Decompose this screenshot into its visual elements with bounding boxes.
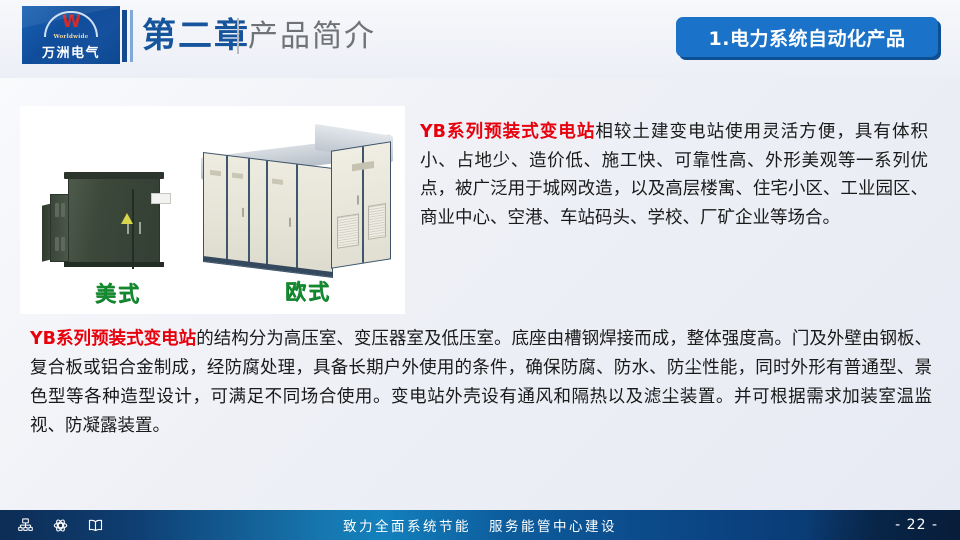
us-vent-slot	[55, 237, 59, 251]
logo-letter: W	[44, 13, 98, 32]
american-substation-image	[50, 168, 168, 268]
intro-paragraph: YB系列预装式变电站相较土建变电站使用灵活方便，具有体积小、占地少、造价低、施工…	[420, 118, 928, 232]
product-image-panel: 美式 欧式	[20, 106, 405, 314]
us-left-side-panel	[50, 194, 70, 262]
caption-european: 欧式	[285, 276, 331, 306]
us-door-handle	[139, 222, 141, 234]
us-door-seam	[132, 189, 134, 269]
eu-door-label	[210, 170, 221, 176]
eu-door-handle	[289, 218, 291, 227]
us-main-cabinet	[68, 176, 160, 264]
company-logo: W Worldwide 万洲电气	[22, 6, 120, 64]
us-roof	[64, 172, 164, 179]
slide-footer: 致力全面系统节能 服务能管中心建设 - 22 -	[0, 510, 960, 540]
eu-panel-seam	[226, 156, 228, 264]
header-title-separator	[237, 18, 239, 54]
eu-panel-seam	[248, 159, 250, 267]
header-divider-dark	[122, 10, 127, 62]
logo-w-mark: W	[44, 11, 98, 33]
chapter-subtitle: 产品简介	[248, 14, 376, 60]
eu-ventilation-grille	[337, 213, 359, 248]
chapter-title: 第二章	[142, 12, 250, 60]
us-warning-triangle-icon	[121, 213, 133, 224]
eu-door-handle	[242, 208, 244, 217]
structure-highlight: YB系列预装式变电站	[30, 329, 196, 349]
european-substation-image	[195, 128, 395, 288]
slide: W Worldwide 万洲电气 第二章 产品简介 1.电力系统自动化产品	[0, 0, 960, 540]
us-base	[64, 262, 164, 267]
slide-header: W Worldwide 万洲电气 第二章 产品简介 1.电力系统自动化产品	[0, 0, 960, 78]
footer-slogan-right: 服务能管中心建设	[489, 515, 617, 535]
intro-highlight: YB系列预装式变电站	[420, 122, 595, 142]
footer-slogan-left: 致力全面系统节能	[343, 515, 471, 535]
logo-company-name: 万洲电气	[42, 42, 100, 61]
footer-slogan: 致力全面系统节能 服务能管中心建设	[0, 510, 960, 540]
us-vent-slot	[61, 237, 65, 251]
page-number: - 22 -	[895, 510, 938, 540]
eu-end-face	[331, 141, 391, 269]
eu-door-label	[272, 178, 283, 184]
caption-american: 美式	[95, 278, 141, 308]
eu-panel-seam	[266, 161, 268, 269]
us-vent-slot	[55, 203, 59, 217]
eu-panel-seam	[296, 164, 298, 272]
us-nameplate	[151, 193, 171, 204]
eu-ventilation-grille	[368, 203, 386, 240]
section-banner-label: 1.电力系统自动化产品	[709, 24, 906, 51]
section-banner: 1.电力系统自动化产品	[676, 17, 938, 57]
structure-paragraph: YB系列预装式变电站的结构分为高压室、变压器室及低压室。底座由槽钢焊接而成，整体…	[30, 325, 932, 441]
logo-arc-shape	[44, 11, 98, 37]
eu-door-label	[232, 173, 243, 179]
header-divider-light	[130, 10, 133, 62]
eu-door-handle	[357, 195, 359, 204]
us-vent-slot	[61, 203, 65, 217]
